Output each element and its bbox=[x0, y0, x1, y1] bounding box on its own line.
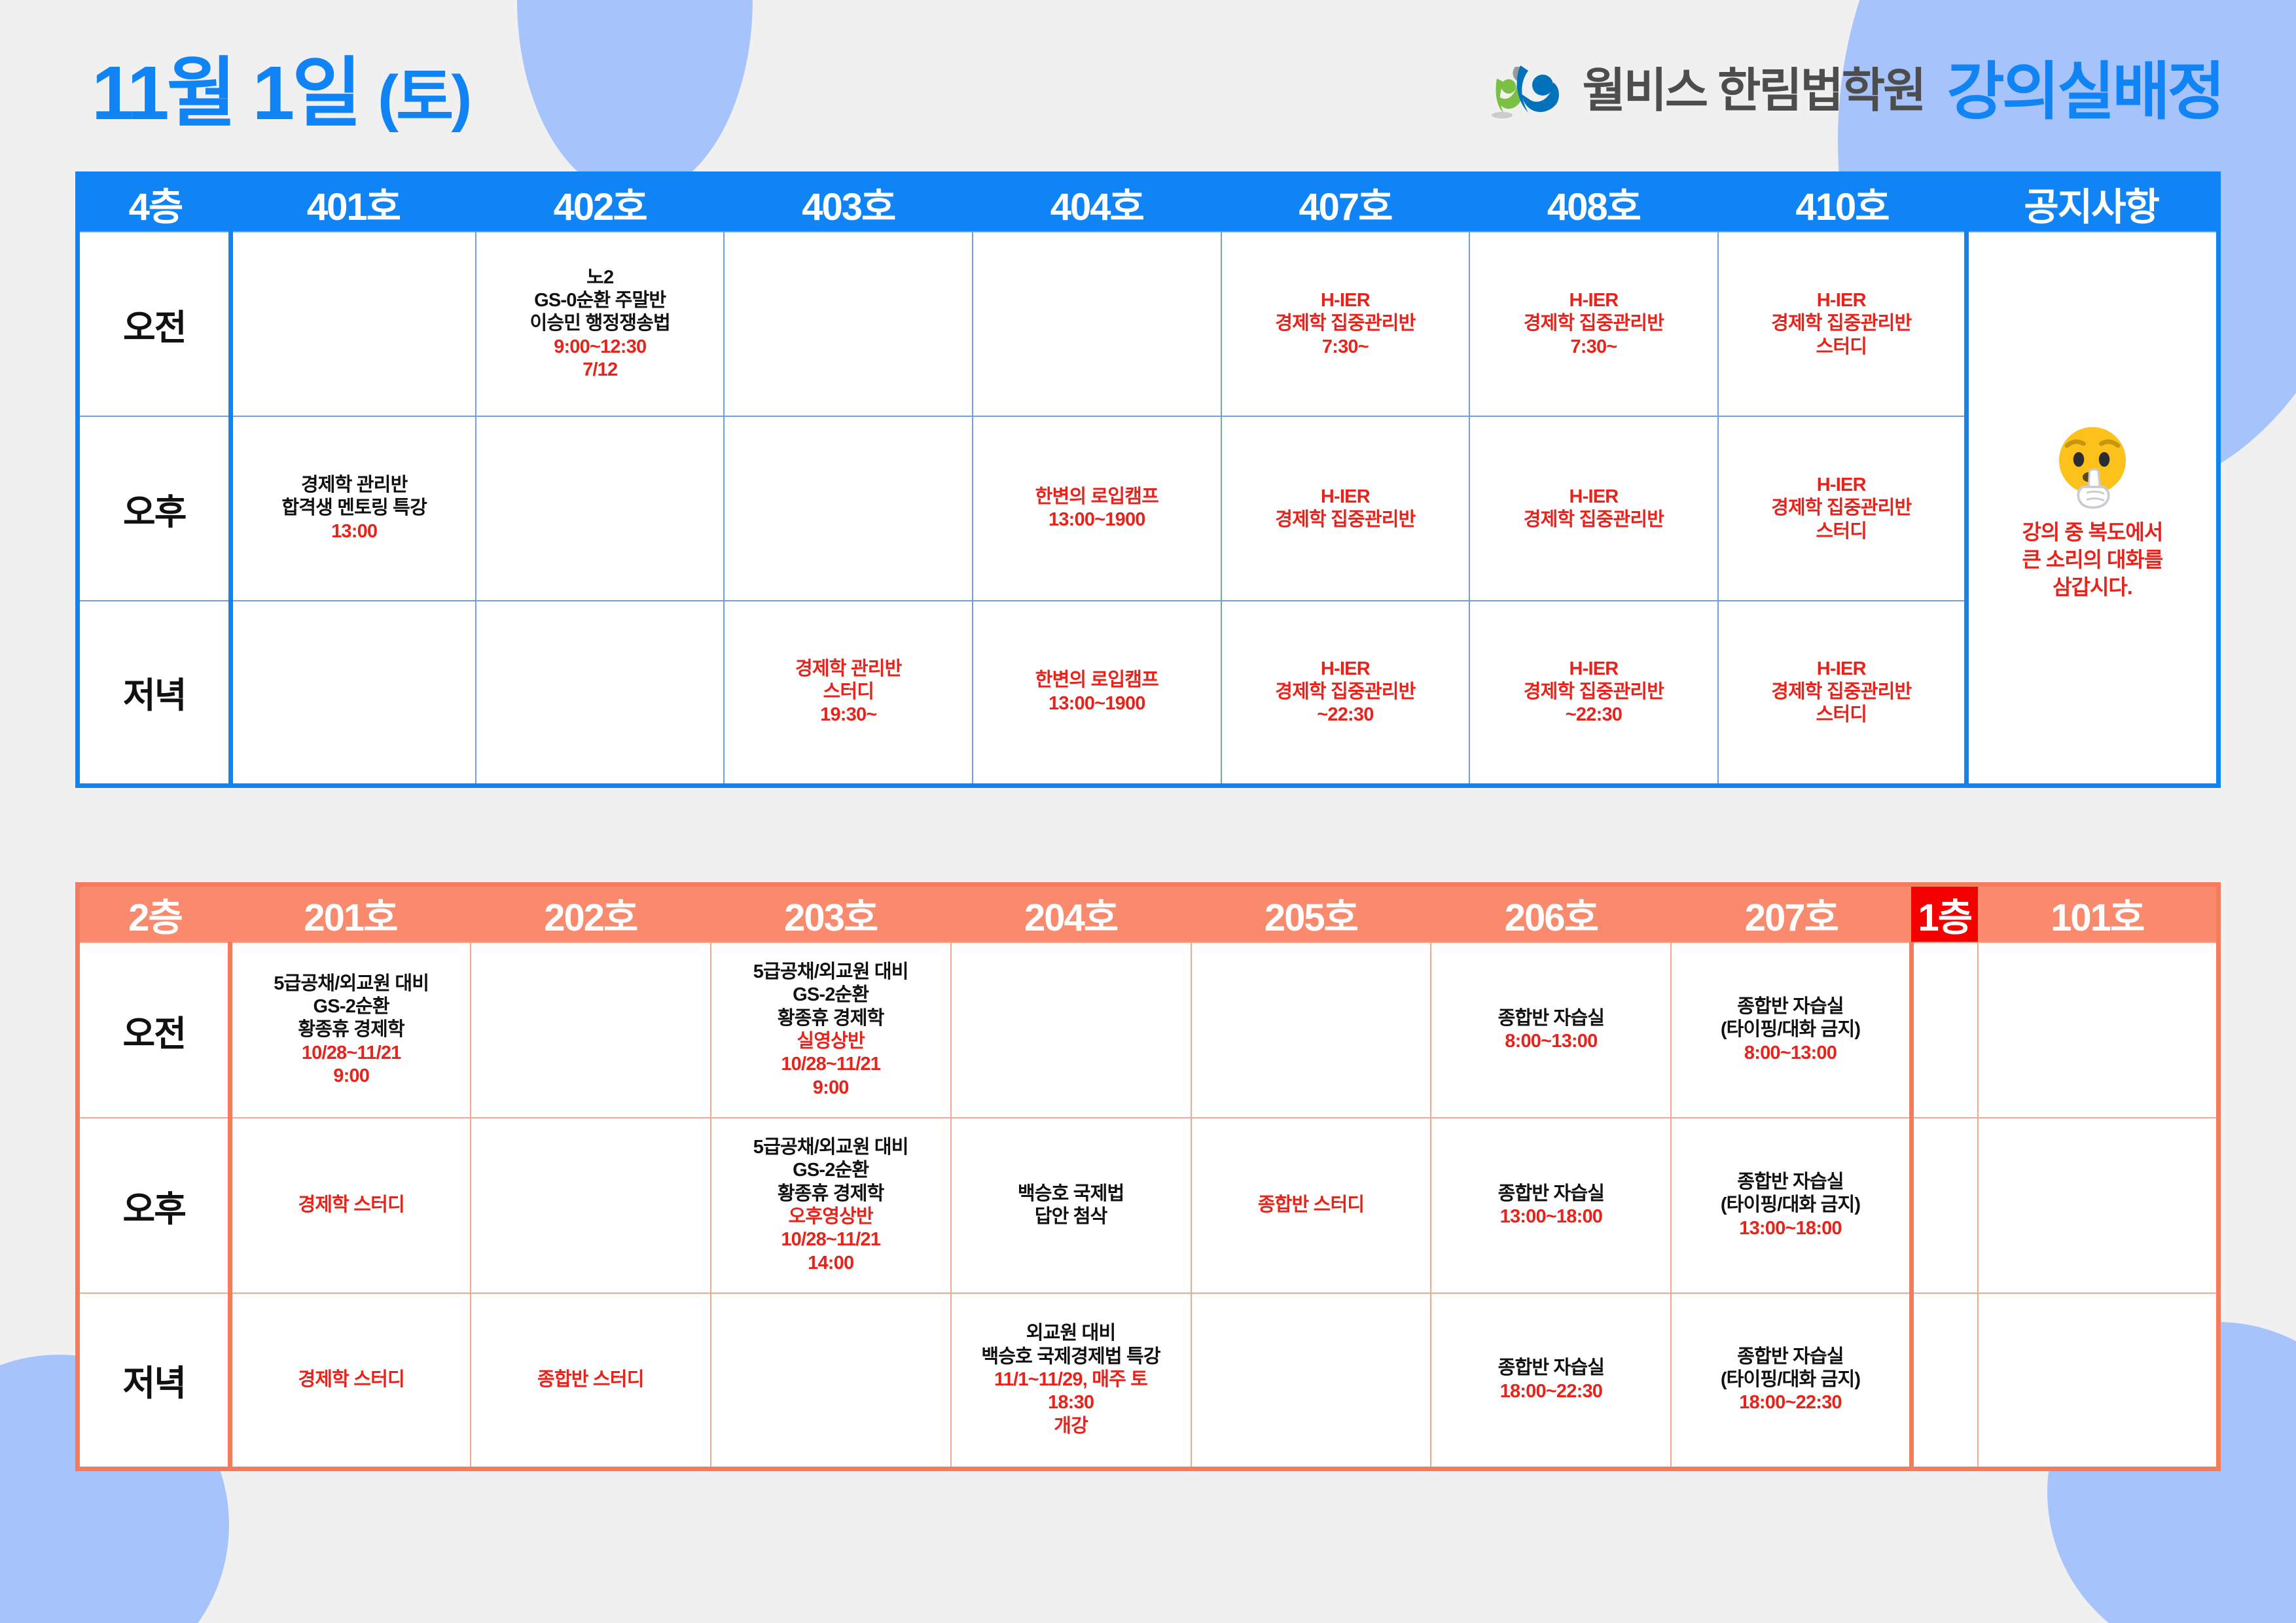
floor4-time-label-오전: 오전 bbox=[78, 232, 231, 416]
floor4-notice-cell: 강의 중 복도에서큰 소리의 대화를삼갑시다. bbox=[1966, 232, 2218, 785]
cell-line: 황종휴 경제학 bbox=[236, 1018, 465, 1041]
cell-line: 14:00 bbox=[715, 1252, 946, 1275]
cell-line: 스터디 bbox=[1723, 336, 1960, 359]
page-title: 11월 1일 (토) bbox=[92, 31, 469, 141]
cell-content: H-IER경제학 집중관리반스터디 bbox=[1723, 474, 1960, 543]
floor2-time-label-오전: 오전 bbox=[78, 942, 230, 1118]
floor4-cell-410호-저녁: H-IER경제학 집중관리반스터디 bbox=[1718, 601, 1967, 785]
cell-content: H-IER경제학 집중관리반7:30~ bbox=[1474, 289, 1713, 359]
cell-line: (타이핑/대화 금지) bbox=[1676, 1194, 1905, 1217]
floor2-time-label-저녁: 저녁 bbox=[78, 1293, 230, 1469]
cell-content: 백승호 국제법답안 첨삭 bbox=[956, 1183, 1187, 1229]
cell-line: 9:00~12:30 bbox=[480, 336, 720, 359]
cell-line: 노2 bbox=[480, 266, 720, 289]
floor2-cell-202호-오전 bbox=[471, 942, 711, 1118]
floor2-schedule-table: 2층201호202호203호204호205호206호207호1층101호 오전5… bbox=[75, 882, 2221, 1471]
cell-line: 경제학 집중관리반 bbox=[1723, 312, 1960, 335]
floor4-time-label-저녁: 저녁 bbox=[78, 601, 231, 785]
cell-line: 백승호 국제법 bbox=[956, 1183, 1187, 1205]
cell-line: (타이핑/대화 금지) bbox=[1676, 1368, 1905, 1391]
cell-line: 10/28~11/21 bbox=[715, 1053, 946, 1076]
floor2-cell-204호-오전 bbox=[951, 942, 1191, 1118]
cell-line: (타이핑/대화 금지) bbox=[1676, 1018, 1905, 1041]
cell-line: 실영상반 bbox=[715, 1030, 946, 1053]
cell-content: H-IER경제학 집중관리반 bbox=[1226, 486, 1465, 532]
floor4-cell-402호-오전: 노2GS-0순환 주말반이승민 행정쟁송법9:00~12:307/12 bbox=[476, 232, 725, 416]
cell-line: 백승호 국제경제법 특강 bbox=[956, 1346, 1187, 1368]
floor2-cell-207호-오전: 종합반 자습실(타이핑/대화 금지)8:00~13:00 bbox=[1671, 942, 1911, 1118]
floor2-body: 오전5급공채/외교원 대비GS-2순환황종휴 경제학10/28~11/219:0… bbox=[78, 942, 2219, 1469]
floor4-cell-408호-저녁: H-IER경제학 집중관리반~22:30 bbox=[1469, 601, 1718, 785]
floor2-cell-204호-오후: 백승호 국제법답안 첨삭 bbox=[951, 1118, 1191, 1293]
cell-line: 10/28~11/21 bbox=[236, 1042, 465, 1065]
floor2-cell-204호-저녁: 외교원 대비백승호 국제경제법 특강11/1~11/29, 매주 토18:30개… bbox=[951, 1293, 1191, 1469]
page-header: 11월 1일 (토) 월비스 한림법학원 강의실배정 bbox=[0, 0, 2296, 164]
cell-line: 경제학 관리반 bbox=[237, 474, 471, 497]
floor4-notice-text: 강의 중 복도에서큰 소리의 대화를삼갑시다. bbox=[1973, 519, 2212, 601]
cell-line: 합격생 멘토링 특강 bbox=[237, 497, 471, 520]
cell-line: H-IER bbox=[1474, 289, 1713, 312]
cell-line: 경제학 스터디 bbox=[236, 1194, 465, 1217]
cell-line: 스터디 bbox=[1723, 520, 1960, 543]
cell-line: 스터디 bbox=[1723, 704, 1960, 726]
cell-line: H-IER bbox=[1723, 289, 1960, 312]
cell-content: 5급공채/외교원 대비GS-2순환황종휴 경제학실영상반10/28~11/219… bbox=[715, 961, 946, 1099]
floor4-cell-403호-오후 bbox=[724, 416, 973, 601]
cell-content: H-IER경제학 집중관리반스터디 bbox=[1723, 289, 1960, 359]
brand-subtitle: 강의실배정 bbox=[1946, 41, 2223, 132]
floor1-spacer-cell bbox=[1911, 1118, 1978, 1293]
floor4-cell-402호-오후 bbox=[476, 416, 725, 601]
floor4-cell-401호-오후: 경제학 관리반합격생 멘토링 특강13:00 bbox=[231, 416, 476, 601]
cell-line: 종합반 자습실 bbox=[1435, 1357, 1666, 1380]
floor4-room-header-410호: 410호 bbox=[1718, 174, 1967, 232]
cell-line: 13:00~1900 bbox=[977, 508, 1217, 531]
floor2-cell-202호-오후 bbox=[471, 1118, 711, 1293]
floor2-cell-101호-오전 bbox=[1978, 942, 2218, 1118]
floor4-label-header: 4층 bbox=[78, 174, 231, 232]
cell-line: 개강 bbox=[956, 1415, 1187, 1438]
brand-block: 월비스 한림법학원 강의실배정 bbox=[1482, 41, 2223, 132]
floor2-room-header-202호: 202호 bbox=[471, 885, 711, 943]
cell-line: 경제학 집중관리반 bbox=[1474, 312, 1713, 335]
cell-content: H-IER경제학 집중관리반7:30~ bbox=[1226, 289, 1465, 359]
floor2-row-오전: 오전5급공채/외교원 대비GS-2순환황종휴 경제학10/28~11/219:0… bbox=[78, 942, 2219, 1118]
floor2-cell-206호-오후: 종합반 자습실13:00~18:00 bbox=[1431, 1118, 1671, 1293]
cell-line: H-IER bbox=[1474, 658, 1713, 681]
cell-content: 5급공채/외교원 대비GS-2순환황종휴 경제학오후영상반10/28~11/21… bbox=[715, 1136, 946, 1275]
floor1-badge-header: 1층 bbox=[1911, 885, 1978, 943]
floor4-cell-401호-저녁 bbox=[231, 601, 476, 785]
floor4-cell-410호-오후: H-IER경제학 집중관리반스터디 bbox=[1718, 416, 1967, 601]
floor4-cell-407호-오후: H-IER경제학 집중관리반 bbox=[1221, 416, 1470, 601]
cell-line: 한변의 로입캠프 bbox=[977, 486, 1217, 508]
cell-line: 스터디 bbox=[728, 681, 968, 704]
cell-content: 경제학 스터디 bbox=[236, 1194, 465, 1217]
floor2-row-오후: 오후경제학 스터디5급공채/외교원 대비GS-2순환황종휴 경제학오후영상반10… bbox=[78, 1118, 2219, 1293]
floor4-room-header-404호: 404호 bbox=[973, 174, 1221, 232]
cell-line: 종합반 자습실 bbox=[1435, 1007, 1666, 1030]
cell-content: 종합반 자습실(타이핑/대화 금지)18:00~22:30 bbox=[1676, 1346, 1905, 1415]
floor4-cell-403호-저녁: 경제학 관리반스터디19:30~ bbox=[724, 601, 973, 785]
floor2-cell-203호-저녁 bbox=[711, 1293, 951, 1469]
cell-line: 9:00 bbox=[236, 1065, 465, 1088]
floor4-header-row: 4층401호402호403호404호407호408호410호공지사항 bbox=[78, 174, 2219, 232]
floor2-cell-201호-저녁: 경제학 스터디 bbox=[230, 1293, 471, 1469]
cell-line: 경제학 관리반 bbox=[728, 658, 968, 681]
cell-line: 경제학 집중관리반 bbox=[1474, 681, 1713, 704]
cell-line: 7:30~ bbox=[1474, 336, 1713, 359]
cell-line: H-IER bbox=[1226, 658, 1465, 681]
cell-line: 18:00~22:30 bbox=[1435, 1380, 1666, 1403]
floor4-body: 오전노2GS-0순환 주말반이승민 행정쟁송법9:00~12:307/12H-I… bbox=[78, 232, 2219, 785]
floor2-room-header-207호: 207호 bbox=[1671, 885, 1911, 943]
cell-line: 경제학 집중관리반 bbox=[1474, 508, 1713, 531]
cell-content: 종합반 자습실(타이핑/대화 금지)13:00~18:00 bbox=[1676, 1171, 1905, 1240]
floor2-room-header-204호: 204호 bbox=[951, 885, 1191, 943]
floor4-cell-408호-오후: H-IER경제학 집중관리반 bbox=[1469, 416, 1718, 601]
cell-line: 외교원 대비 bbox=[956, 1322, 1187, 1345]
floor4-room-header-403호: 403호 bbox=[724, 174, 973, 232]
cell-line: 오후영상반 bbox=[715, 1205, 946, 1228]
cell-content: 종합반 자습실(타이핑/대화 금지)8:00~13:00 bbox=[1676, 995, 1905, 1065]
cell-line: 황종휴 경제학 bbox=[715, 1183, 946, 1205]
floor2-room-header-201호: 201호 bbox=[230, 885, 471, 943]
floor4-cell-410호-오전: H-IER경제학 집중관리반스터디 bbox=[1718, 232, 1967, 416]
floor4-room-header-408호: 408호 bbox=[1469, 174, 1718, 232]
cell-line: 경제학 집중관리반 bbox=[1723, 681, 1960, 704]
cell-content: 종합반 자습실8:00~13:00 bbox=[1435, 1007, 1666, 1054]
floor4-cell-404호-오후: 한변의 로입캠프13:00~1900 bbox=[973, 416, 1221, 601]
floor2-room-header-203호: 203호 bbox=[711, 885, 951, 943]
cell-line: 11/1~11/29, 매주 토 bbox=[956, 1368, 1187, 1391]
floor2-cell-203호-오후: 5급공채/외교원 대비GS-2순환황종휴 경제학오후영상반10/28~11/21… bbox=[711, 1118, 951, 1293]
floor4-notice-header: 공지사항 bbox=[1966, 174, 2218, 232]
cell-line: GS-2순환 bbox=[236, 995, 465, 1018]
floor4-room-header-402호: 402호 bbox=[476, 174, 725, 232]
cell-line: 13:00~18:00 bbox=[1676, 1217, 1905, 1240]
cell-line: 19:30~ bbox=[728, 704, 968, 726]
cell-line: 5급공채/외교원 대비 bbox=[236, 972, 465, 995]
cell-line: H-IER bbox=[1723, 474, 1960, 497]
cell-line: 7/12 bbox=[480, 359, 720, 382]
cell-line: 답안 첨삭 bbox=[956, 1205, 1187, 1228]
floor4-cell-407호-저녁: H-IER경제학 집중관리반~22:30 bbox=[1221, 601, 1470, 785]
floor4-cell-402호-저녁 bbox=[476, 601, 725, 785]
floor4-cell-401호-오전 bbox=[231, 232, 476, 416]
floor2-label-header: 2층 bbox=[78, 885, 230, 943]
floor2-cell-205호-오전 bbox=[1191, 942, 1431, 1118]
cell-content: H-IER경제학 집중관리반 bbox=[1474, 486, 1713, 532]
floor2-row-저녁: 저녁경제학 스터디종합반 스터디외교원 대비백승호 국제경제법 특강11/1~1… bbox=[78, 1293, 2219, 1469]
floor4-schedule-table: 4층401호402호403호404호407호408호410호공지사항 오전노2G… bbox=[75, 171, 2221, 788]
floor1-spacer-cell bbox=[1911, 942, 1978, 1118]
floor2-cell-203호-오전: 5급공채/외교원 대비GS-2순환황종휴 경제학실영상반10/28~11/219… bbox=[711, 942, 951, 1118]
cell-line: 경제학 집중관리반 bbox=[1226, 681, 1465, 704]
cell-content: 종합반 자습실18:00~22:30 bbox=[1435, 1357, 1666, 1403]
floor2-cell-206호-저녁: 종합반 자습실18:00~22:30 bbox=[1431, 1293, 1671, 1469]
cell-content: 종합반 스터디 bbox=[1196, 1194, 1427, 1217]
shushing-face-emoji bbox=[2043, 414, 2142, 512]
cell-content: H-IER경제학 집중관리반스터디 bbox=[1723, 658, 1960, 727]
cell-content: H-IER경제학 집중관리반~22:30 bbox=[1226, 658, 1465, 727]
cell-content: 한변의 로입캠프13:00~1900 bbox=[977, 486, 1217, 532]
schedule-page: 11월 1일 (토) 월비스 한림법학원 강의실배정 4 bbox=[0, 0, 2296, 1623]
cell-line: H-IER bbox=[1226, 289, 1465, 312]
cell-content: 종합반 스터디 bbox=[475, 1368, 706, 1391]
notice-line: 큰 소리의 대화를 bbox=[1973, 546, 2212, 574]
cell-line: 13:00 bbox=[237, 520, 471, 543]
floor4-cell-408호-오전: H-IER경제학 집중관리반7:30~ bbox=[1469, 232, 1718, 416]
cell-line: 경제학 집중관리반 bbox=[1226, 508, 1465, 531]
floor2-room-header-206호: 206호 bbox=[1431, 885, 1671, 943]
floor2-room-header-205호: 205호 bbox=[1191, 885, 1431, 943]
cell-line: 18:00~22:30 bbox=[1676, 1391, 1905, 1414]
cell-content: 한변의 로입캠프13:00~1900 bbox=[977, 669, 1217, 715]
cell-line: 5급공채/외교원 대비 bbox=[715, 1136, 946, 1159]
wolbis-people-logo-icon bbox=[1482, 52, 1566, 120]
floor4-room-header-407호: 407호 bbox=[1221, 174, 1470, 232]
cell-line: 9:00 bbox=[715, 1077, 946, 1099]
cell-line: 종합반 자습실 bbox=[1676, 995, 1905, 1018]
cell-line: 이승민 행정쟁송법 bbox=[480, 312, 720, 335]
cell-content: 종합반 자습실13:00~18:00 bbox=[1435, 1183, 1666, 1229]
floor4-row-오전: 오전노2GS-0순환 주말반이승민 행정쟁송법9:00~12:307/12H-I… bbox=[78, 232, 2219, 416]
cell-content: 경제학 관리반스터디19:30~ bbox=[728, 658, 968, 727]
title-day-of-week: (토) bbox=[378, 63, 469, 133]
cell-line: 경제학 집중관리반 bbox=[1723, 497, 1960, 520]
floor2-cell-101호-오후 bbox=[1978, 1118, 2218, 1293]
cell-line: 10/28~11/21 bbox=[715, 1228, 946, 1251]
cell-line: 13:00~1900 bbox=[977, 692, 1217, 715]
notice-line: 강의 중 복도에서 bbox=[1973, 519, 2212, 546]
cell-line: 종합반 자습실 bbox=[1676, 1346, 1905, 1368]
cell-content: H-IER경제학 집중관리반~22:30 bbox=[1474, 658, 1713, 727]
floor2-header-row: 2층201호202호203호204호205호206호207호1층101호 bbox=[78, 885, 2219, 943]
cell-line: H-IER bbox=[1723, 658, 1960, 681]
floor4-cell-404호-오전 bbox=[973, 232, 1221, 416]
cell-line: H-IER bbox=[1474, 486, 1713, 508]
cell-line: 종합반 자습실 bbox=[1676, 1171, 1905, 1194]
floor4-cell-407호-오전: H-IER경제학 집중관리반7:30~ bbox=[1221, 232, 1470, 416]
cell-line: 경제학 스터디 bbox=[236, 1368, 465, 1391]
cell-line: 종합반 스터디 bbox=[1196, 1194, 1427, 1217]
brand-name: 월비스 한림법학원 bbox=[1582, 52, 1924, 120]
notice-line: 삼갑시다. bbox=[1973, 574, 2212, 601]
floor2-time-label-오후: 오후 bbox=[78, 1118, 230, 1293]
cell-line: ~22:30 bbox=[1226, 704, 1465, 726]
cell-line: 종합반 자습실 bbox=[1435, 1183, 1666, 1205]
cell-content: 경제학 스터디 bbox=[236, 1368, 465, 1391]
cell-line: 18:30 bbox=[956, 1391, 1187, 1414]
floor2-cell-201호-오전: 5급공채/외교원 대비GS-2순환황종휴 경제학10/28~11/219:00 bbox=[230, 942, 471, 1118]
cell-line: 한변의 로입캠프 bbox=[977, 669, 1217, 692]
cell-line: ~22:30 bbox=[1474, 704, 1713, 726]
cell-line: 7:30~ bbox=[1226, 336, 1465, 359]
floor4-cell-403호-오전 bbox=[724, 232, 973, 416]
floor2-cell-202호-저녁: 종합반 스터디 bbox=[471, 1293, 711, 1469]
cell-line: 5급공채/외교원 대비 bbox=[715, 961, 946, 984]
cell-line: GS-2순환 bbox=[715, 984, 946, 1007]
cell-line: 13:00~18:00 bbox=[1435, 1205, 1666, 1228]
cell-line: 8:00~13:00 bbox=[1435, 1030, 1666, 1053]
cell-line: GS-0순환 주말반 bbox=[480, 289, 720, 312]
cell-line: 종합반 스터디 bbox=[475, 1368, 706, 1391]
cell-line: 8:00~13:00 bbox=[1676, 1042, 1905, 1065]
floor2-cell-206호-오전: 종합반 자습실8:00~13:00 bbox=[1431, 942, 1671, 1118]
floor4-room-header-401호: 401호 bbox=[231, 174, 476, 232]
floor4-time-label-오후: 오후 bbox=[78, 416, 231, 601]
cell-line: 황종휴 경제학 bbox=[715, 1007, 946, 1030]
floor2-cell-205호-저녁 bbox=[1191, 1293, 1431, 1469]
cell-content: 경제학 관리반합격생 멘토링 특강13:00 bbox=[237, 474, 471, 543]
cell-line: H-IER bbox=[1226, 486, 1465, 508]
cell-line: 경제학 집중관리반 bbox=[1226, 312, 1465, 335]
floor4-row-저녁: 저녁경제학 관리반스터디19:30~한변의 로입캠프13:00~1900H-IE… bbox=[78, 601, 2219, 785]
title-date-text: 11월 1일 bbox=[92, 50, 359, 135]
cell-content: 노2GS-0순환 주말반이승민 행정쟁송법9:00~12:307/12 bbox=[480, 266, 720, 382]
floor2-room-header-101호: 101호 bbox=[1978, 885, 2218, 943]
floor2-cell-201호-오후: 경제학 스터디 bbox=[230, 1118, 471, 1293]
floor2-cell-205호-오후: 종합반 스터디 bbox=[1191, 1118, 1431, 1293]
cell-content: 5급공채/외교원 대비GS-2순환황종휴 경제학10/28~11/219:00 bbox=[236, 972, 465, 1088]
floor2-cell-207호-저녁: 종합반 자습실(타이핑/대화 금지)18:00~22:30 bbox=[1671, 1293, 1911, 1469]
floor4-cell-404호-저녁: 한변의 로입캠프13:00~1900 bbox=[973, 601, 1221, 785]
cell-content: 외교원 대비백승호 국제경제법 특강11/1~11/29, 매주 토18:30개… bbox=[956, 1322, 1187, 1438]
floor1-spacer-cell bbox=[1911, 1293, 1978, 1469]
floor2-cell-207호-오후: 종합반 자습실(타이핑/대화 금지)13:00~18:00 bbox=[1671, 1118, 1911, 1293]
cell-line: GS-2순환 bbox=[715, 1159, 946, 1182]
floor4-row-오후: 오후경제학 관리반합격생 멘토링 특강13:00한변의 로입캠프13:00~19… bbox=[78, 416, 2219, 601]
floor2-cell-101호-저녁 bbox=[1978, 1293, 2218, 1469]
